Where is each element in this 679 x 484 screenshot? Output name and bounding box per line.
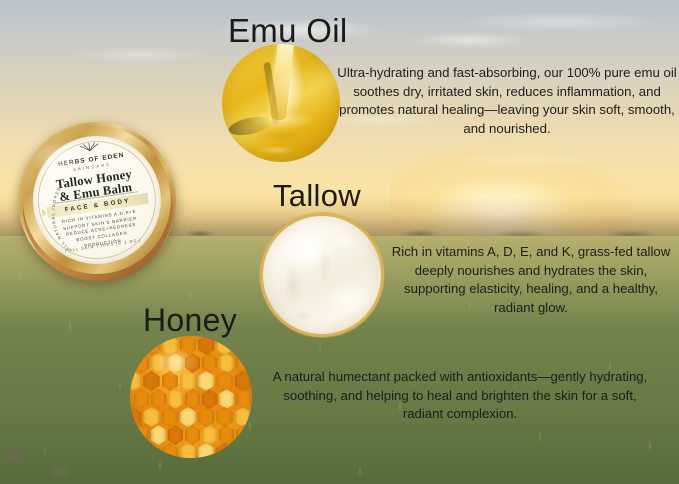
infographic-canvas: Emu Oil Ultra-hydrating and fast-absorbi… <box>0 0 679 484</box>
emu-oil-heading: Emu Oil <box>228 12 347 50</box>
list-item: SUPPORT SKIN'S BARRIER <box>36 212 164 236</box>
tin-label: HERBS OF EDEN SKINCARE Tallow Honey & Em… <box>25 128 170 273</box>
honey-description: A natural humectant packed with antioxid… <box>272 368 648 424</box>
tin-divider <box>55 191 138 204</box>
honeycomb-highlight <box>140 342 210 382</box>
emu-oil-circle-image <box>222 44 340 162</box>
emu-oil-description: Ultra-hydrating and fast-absorbing, our … <box>337 64 677 139</box>
tin-curved-text: ALL NATURAL INGREDIENTS WWW.HERBSOFEDEN.… <box>41 140 169 273</box>
tin-use-label: FACE & BODY <box>64 197 130 213</box>
tallow-heading: Tallow <box>273 178 361 214</box>
tin-product-title: Tallow Honey & Emu Balm <box>30 164 160 208</box>
tallow-texture <box>263 216 381 334</box>
honeycomb-circle-image <box>130 336 252 458</box>
tallow-description: Rich in vitamins A, D, E, and K, grass-f… <box>386 243 676 318</box>
tin-title-line1: Tallow Honey <box>30 164 159 195</box>
tin-title-line2: & Emu Balm <box>32 177 161 208</box>
list-item: RICH IN VITAMINS A,D,K+E <box>35 205 163 229</box>
tin-arc-right-text: WWW.HERBSOFEDEN.SHOP <box>41 140 169 257</box>
tallow-circle-image <box>260 213 384 337</box>
foreground-rocks <box>0 430 140 484</box>
arc-right-label: WWW.HERBSOFEDEN.SHOP <box>41 140 169 257</box>
honey-heading: Honey <box>143 302 237 339</box>
tin-use-band: FACE & BODY <box>46 193 149 218</box>
